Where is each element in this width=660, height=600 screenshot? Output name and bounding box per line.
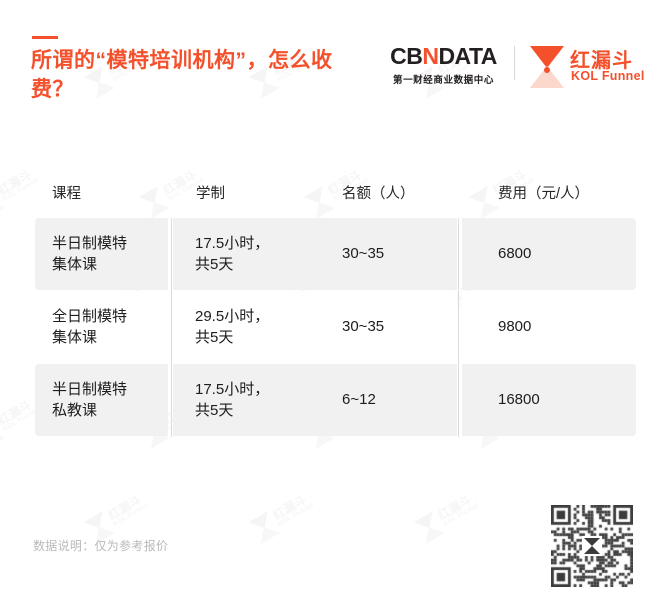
cell-quota: 30~35 — [342, 243, 462, 264]
header: 所谓的“模特培训机构”，怎么收费？ CBNDATA 第一财经商业数据中心 红漏斗… — [0, 0, 660, 140]
cbndata-logo: CBNDATA 第一财经商业数据中心 — [381, 44, 506, 86]
watermark-hongloudou: 红漏斗KOL Funnel — [412, 484, 491, 547]
watermark-text-main: 红漏斗 — [435, 491, 475, 524]
table-row: 全日制模特 集体课 29.5小时， 共5天 30~35 9800 — [35, 291, 636, 363]
table-row: 半日制模特 私教课 17.5小时， 共5天 6~12 16800 — [35, 364, 636, 436]
cell-fee: 16800 — [498, 389, 628, 410]
watermark-funnel-bottom — [0, 197, 5, 219]
column-divider-2 — [458, 218, 459, 437]
cell-quota: 6~12 — [342, 389, 462, 410]
column-header-course: 课程 — [52, 182, 81, 203]
watermark-funnel-top — [83, 511, 109, 533]
cbndata-word-cb: CB — [390, 43, 422, 69]
cell-course: 半日制模特 私教课 — [52, 379, 164, 421]
hongloudou-logo: 红漏斗 KOL Funnel — [528, 44, 640, 90]
watermark-text-sub: KOL Funnel — [112, 502, 150, 528]
funnel-top-triangle — [530, 46, 564, 68]
logo-divider — [514, 46, 515, 80]
watermark-text-main: 红漏斗 — [0, 396, 34, 429]
column-header-duration: 学制 — [196, 182, 225, 203]
watermark-text-sub: KOL Funnel — [442, 502, 480, 528]
table-body: 半日制模特 集体课 17.5小时， 共5天 30~35 6800 全日制模特 集… — [35, 218, 636, 437]
cell-course: 半日制模特 集体课 — [52, 233, 164, 275]
hourglass-funnel-icon — [530, 46, 564, 88]
pricing-table: 课程 学制 名额（人） 费用（元/人） 半日制模特 集体课 17.5小时， 共5… — [35, 170, 636, 437]
cell-fee: 9800 — [498, 316, 628, 337]
cell-duration: 17.5小时， 共5天 — [195, 233, 315, 275]
watermark-funnel-bottom — [254, 522, 280, 544]
watermark-funnel-top — [413, 511, 439, 533]
watermark-funnel-bottom — [0, 427, 5, 449]
cell-duration: 17.5小时， 共5天 — [195, 379, 315, 421]
title-dash-decoration — [32, 36, 58, 39]
table-header-row: 课程 学制 名额（人） 费用（元/人） — [35, 170, 636, 218]
page-title: 所谓的“模特培训机构”，怎么收费？ — [31, 46, 361, 104]
infographic-page: 红漏斗KOL Funnel红漏斗KOL Funnel红漏斗KOL Funnel红… — [0, 0, 660, 600]
column-header-quota: 名额（人） — [342, 182, 415, 203]
qr-funnel-bottom-triangle — [584, 546, 600, 554]
column-header-fee: 费用（元/人） — [498, 182, 589, 203]
watermark-text-main: 红漏斗 — [270, 491, 310, 524]
qr-code[interactable] — [551, 505, 633, 587]
data-note: 数据说明：仅为参考报价 — [33, 537, 168, 554]
watermark-text-main: 红漏斗 — [0, 166, 34, 199]
hongloudou-subtitle: KOL Funnel — [571, 69, 645, 83]
qr-center-funnel-icon — [582, 536, 602, 556]
cell-fee: 6800 — [498, 243, 628, 264]
cell-quota: 30~35 — [342, 316, 462, 337]
cbndata-subtitle: 第一财经商业数据中心 — [381, 72, 506, 86]
cbndata-word-n: N — [422, 43, 438, 69]
cbndata-wordmark: CBNDATA — [381, 44, 506, 69]
watermark-text-main: 红漏斗 — [105, 491, 145, 524]
cbndata-word-data: DATA — [438, 43, 496, 69]
watermark-funnel-top — [248, 511, 274, 533]
watermark-funnel-bottom — [419, 522, 445, 544]
table-row: 半日制模特 集体课 17.5小时， 共5天 30~35 6800 — [35, 218, 636, 290]
cell-duration: 29.5小时， 共5天 — [195, 306, 315, 348]
watermark-text-sub: KOL Funnel — [277, 502, 315, 528]
watermark-hongloudou: 红漏斗KOL Funnel — [247, 484, 326, 547]
column-divider-1 — [171, 218, 172, 437]
qr-funnel-top-triangle — [584, 538, 600, 546]
funnel-center-dot — [544, 67, 550, 73]
cell-course: 全日制模特 集体课 — [52, 306, 164, 348]
